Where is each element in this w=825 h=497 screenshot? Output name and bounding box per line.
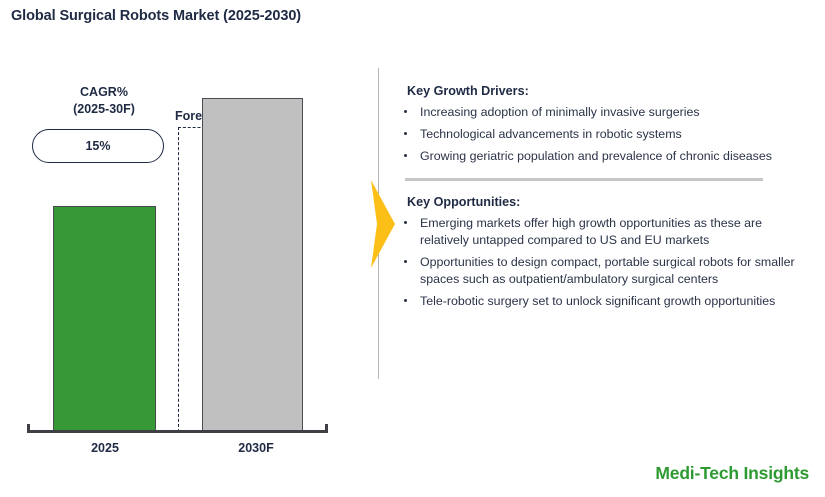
list-item-label: Opportunities to design compact, portabl…	[420, 255, 795, 286]
list-item-label: Emerging markets offer high growth oppor…	[420, 216, 762, 247]
bar-chart: CAGR% (2025-30F) 15% Forecast 2025 2030F	[0, 48, 370, 408]
forecast-divider-line	[178, 127, 179, 432]
x-axis-line	[27, 430, 328, 433]
page-title: Global Surgical Robots Market (2025-2030…	[11, 8, 301, 24]
chevron-right-icon	[371, 176, 395, 272]
bullet-icon	[404, 260, 407, 263]
cagr-title: CAGR%	[30, 84, 178, 101]
opportunities-list: Emerging markets offer high growth oppor…	[398, 215, 810, 310]
list-item: Increasing adoption of minimally invasiv…	[398, 104, 810, 121]
x-axis-label-2025: 2025	[45, 441, 165, 455]
bullet-icon	[404, 154, 407, 157]
bar-2030f	[202, 98, 303, 432]
list-item: Emerging markets offer high growth oppor…	[398, 215, 810, 249]
list-item: Growing geriatric population and prevale…	[398, 148, 810, 165]
drivers-list: Increasing adoption of minimally invasiv…	[398, 104, 810, 165]
x-axis-label-2030f: 2030F	[196, 441, 316, 455]
bullet-icon	[404, 221, 407, 224]
list-item: Opportunities to design compact, portabl…	[398, 254, 810, 288]
drivers-heading: Key Growth Drivers:	[407, 84, 810, 98]
list-item-label: Growing geriatric population and prevale…	[420, 148, 810, 165]
bullet-icon	[404, 299, 407, 302]
list-item-label: Technological advancements in robotic sy…	[420, 127, 682, 141]
slide-canvas: Global Surgical Robots Market (2025-2030…	[0, 0, 825, 497]
cagr-label: CAGR% (2025-30F)	[30, 84, 178, 118]
bullet-icon	[404, 110, 407, 113]
list-item-label: Increasing adoption of minimally invasiv…	[420, 105, 700, 119]
list-item: Tele-robotic surgery set to unlock signi…	[398, 293, 810, 310]
cagr-period: (2025-30F)	[30, 101, 178, 118]
bar-2025	[53, 206, 156, 432]
cagr-badge: 15%	[32, 129, 164, 163]
section-divider	[405, 178, 763, 181]
bullet-icon	[404, 132, 407, 135]
cagr-value: 15%	[85, 139, 110, 153]
x-axis-tick-left	[27, 424, 30, 433]
list-item-label: Tele-robotic surgery set to unlock signi…	[420, 294, 775, 308]
brand-logo: Medi-Tech Insights	[655, 463, 809, 484]
insights-panel: Key Growth Drivers: Increasing adoption …	[398, 84, 810, 315]
x-axis-tick-right	[325, 424, 328, 433]
list-item: Technological advancements in robotic sy…	[398, 126, 810, 143]
opportunities-heading: Key Opportunities:	[407, 195, 810, 209]
